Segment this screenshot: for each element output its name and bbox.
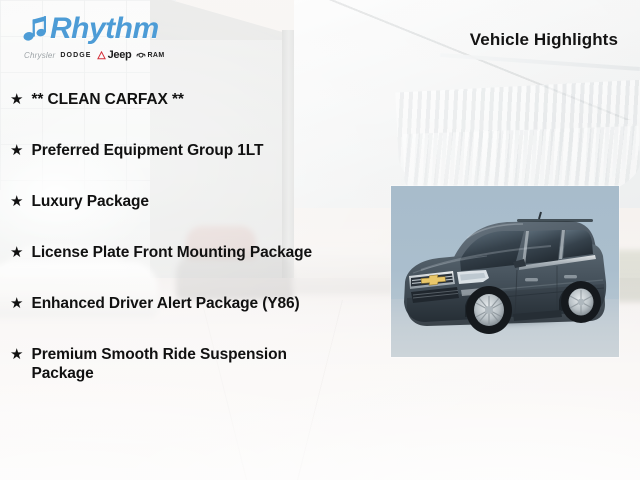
ram-head-icon (136, 52, 146, 60)
music-note-icon (22, 14, 48, 44)
vehicle-highlights-slide: Rhythm Chrysler DODGE Jeep RAM Vehicle H… (0, 0, 640, 480)
brand-jeep-group: Jeep (97, 50, 132, 61)
brand-ram: RAM (147, 52, 164, 59)
highlight-label: Premium Smooth Ride Suspension Package (31, 345, 344, 383)
list-item: ★ Enhanced Driver Alert Package (Y86) (0, 294, 352, 314)
jeep-triangle-icon (97, 51, 106, 60)
list-item: ★ Luxury Package (0, 192, 352, 212)
list-item: ★ Premium Smooth Ride Suspension Package (0, 345, 352, 383)
highlight-label: Enhanced Driver Alert Package (Y86) (31, 294, 299, 313)
star-bullet-icon: ★ (10, 90, 23, 110)
star-bullet-icon: ★ (10, 192, 23, 212)
brand-ram-group: RAM (136, 52, 164, 60)
dealer-logo-text: Rhythm (50, 14, 159, 44)
brand-jeep: Jeep (108, 50, 132, 61)
highlight-label: ** CLEAN CARFAX ** (31, 90, 183, 109)
star-bullet-icon: ★ (10, 345, 23, 365)
brand-chrysler: Chrysler (24, 52, 55, 60)
star-bullet-icon: ★ (10, 243, 23, 263)
vehicle-photo[interactable] (391, 186, 619, 357)
list-item: ★ License Plate Front Mounting Package (0, 243, 352, 263)
vehicle-highlights-list: ★ ** CLEAN CARFAX ** ★ Preferred Equipme… (0, 90, 352, 414)
dealer-logo-wordmark: Rhythm (22, 12, 174, 46)
highlight-label: License Plate Front Mounting Package (31, 243, 312, 262)
star-bullet-icon: ★ (10, 294, 23, 314)
highlight-label: Preferred Equipment Group 1LT (31, 141, 263, 160)
list-item: ★ Preferred Equipment Group 1LT (0, 141, 352, 161)
suv-illustration (391, 186, 619, 357)
highlight-label: Luxury Package (31, 192, 149, 211)
dealer-brand-row: Chrysler DODGE Jeep RAM (22, 49, 174, 62)
list-item: ★ ** CLEAN CARFAX ** (0, 90, 352, 110)
page-title: Vehicle Highlights (470, 30, 618, 50)
dealer-logo[interactable]: Rhythm Chrysler DODGE Jeep RAM (22, 12, 174, 62)
brand-dodge: DODGE (60, 52, 91, 59)
star-bullet-icon: ★ (10, 141, 23, 161)
